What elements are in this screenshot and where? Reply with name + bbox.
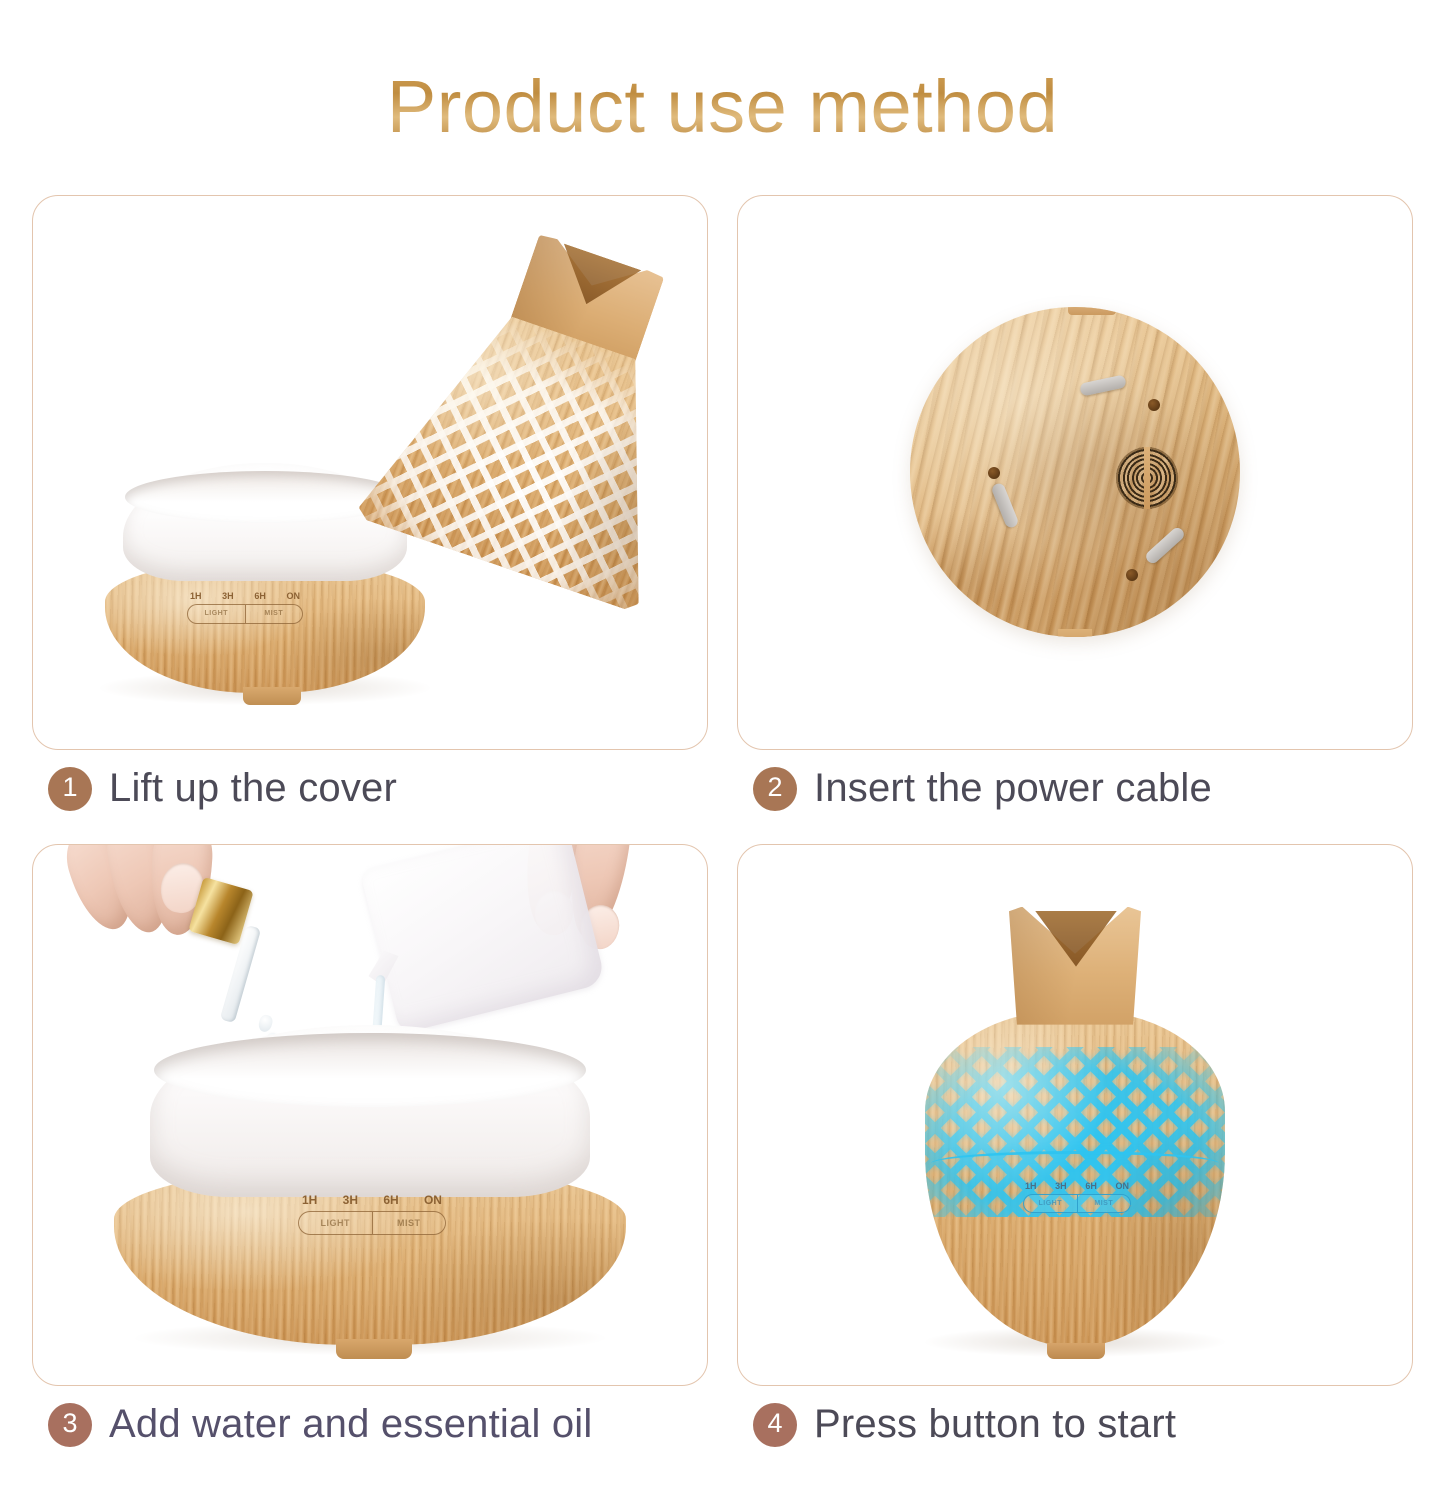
underside-top-notch <box>1068 307 1116 315</box>
vase-foot <box>1047 1343 1105 1359</box>
step-1-caption-row: 1 Lift up the cover <box>32 750 708 828</box>
light-button[interactable]: LIGHT <box>188 605 245 623</box>
base-foot <box>336 1339 412 1359</box>
step-3-caption: Add water and essential oil <box>109 1402 592 1447</box>
timer-label-on: ON <box>286 591 300 601</box>
step-badge-1: 1 <box>48 767 92 811</box>
step-2-photo <box>737 195 1413 750</box>
step-card-2: 2 Insert the power cable <box>737 195 1413 828</box>
timer-label-1h: 1H <box>302 1193 317 1207</box>
step-badge-2: 2 <box>753 767 797 811</box>
timer-label-on: ON <box>1115 1181 1129 1191</box>
hand-with-measuring-cup <box>359 844 679 1055</box>
screw-hole <box>1126 569 1138 581</box>
timer-label-6h: 6H <box>254 591 266 601</box>
page-title: Product use method <box>0 50 1445 146</box>
assembled-diffuser: 1H 3H 6H ON LIGHT MIST <box>925 907 1225 1347</box>
measuring-cup <box>360 844 606 1034</box>
step-3-photo: 1H 3H 6H ON LIGHT MIST <box>32 844 708 1386</box>
power-port-notch <box>1058 629 1092 637</box>
timer-label-6h: 6H <box>1085 1181 1097 1191</box>
screw-hole <box>1148 399 1160 411</box>
light-button[interactable]: LIGHT <box>299 1212 372 1234</box>
step-3-caption-row: 3 Add water and essential oil <box>32 1386 708 1464</box>
step-1-caption: Lift up the cover <box>109 766 397 811</box>
vase-wood-body <box>925 1011 1225 1347</box>
step-4-caption: Press button to start <box>814 1402 1176 1447</box>
step-4-caption-row: 4 Press button to start <box>737 1386 1413 1464</box>
control-panel[interactable]: 1H 3H 6H ON LIGHT MIST <box>187 591 303 624</box>
step-2-caption: Insert the power cable <box>814 766 1212 811</box>
step-1-photo: 1H 3H 6H ON LIGHT MIST <box>32 195 708 750</box>
step-badge-3: 3 <box>48 1403 92 1447</box>
control-buttons: LIGHT MIST <box>1023 1194 1131 1213</box>
light-button[interactable]: LIGHT <box>1024 1195 1077 1212</box>
control-panel[interactable]: 1H 3H 6H ON LIGHT MIST <box>298 1193 446 1235</box>
timer-label-1h: 1H <box>190 591 202 601</box>
base-white-rim <box>154 1033 586 1107</box>
timer-label-on: ON <box>424 1193 442 1207</box>
step-card-3: 1H 3H 6H ON LIGHT MIST 3 Add water and e… <box>32 844 708 1464</box>
step-2-caption-row: 2 Insert the power cable <box>737 750 1413 828</box>
control-panel[interactable]: 1H 3H 6H ON LIGHT MIST <box>1023 1181 1131 1213</box>
hand-with-dropper <box>73 844 293 1029</box>
diffuser-base-open: 1H 3H 6H ON LIGHT MIST <box>114 1025 626 1345</box>
step-4-photo: 1H 3H 6H ON LIGHT MIST <box>737 844 1413 1386</box>
diffuser-underside <box>910 307 1240 637</box>
timer-label-6h: 6H <box>383 1193 398 1207</box>
mist-button[interactable]: MIST <box>372 1212 446 1234</box>
timer-label-3h: 3H <box>343 1193 358 1207</box>
timer-label-1h: 1H <box>1025 1181 1037 1191</box>
screw-hole <box>988 467 1000 479</box>
fan-vent-icon <box>1116 447 1178 509</box>
timer-label-3h: 3H <box>222 591 234 601</box>
base-foot <box>243 687 301 705</box>
timer-labels: 1H 3H 6H ON <box>187 591 303 601</box>
mist-button[interactable]: MIST <box>245 605 303 623</box>
step-card-4: 1H 3H 6H ON LIGHT MIST 4 Press button to… <box>737 844 1413 1464</box>
timer-labels: 1H 3H 6H ON <box>1023 1181 1131 1191</box>
timer-labels: 1H 3H 6H ON <box>298 1193 446 1207</box>
mist-button[interactable]: MIST <box>1077 1195 1131 1212</box>
steps-grid: 1H 3H 6H ON LIGHT MIST <box>32 195 1413 1464</box>
step-card-1: 1H 3H 6H ON LIGHT MIST <box>32 195 708 828</box>
timer-label-3h: 3H <box>1055 1181 1067 1191</box>
control-buttons: LIGHT MIST <box>187 604 303 624</box>
led-ring-light <box>931 1151 1219 1176</box>
control-buttons: LIGHT MIST <box>298 1211 446 1235</box>
step-badge-4: 4 <box>753 1403 797 1447</box>
underside-shading <box>910 307 1240 637</box>
